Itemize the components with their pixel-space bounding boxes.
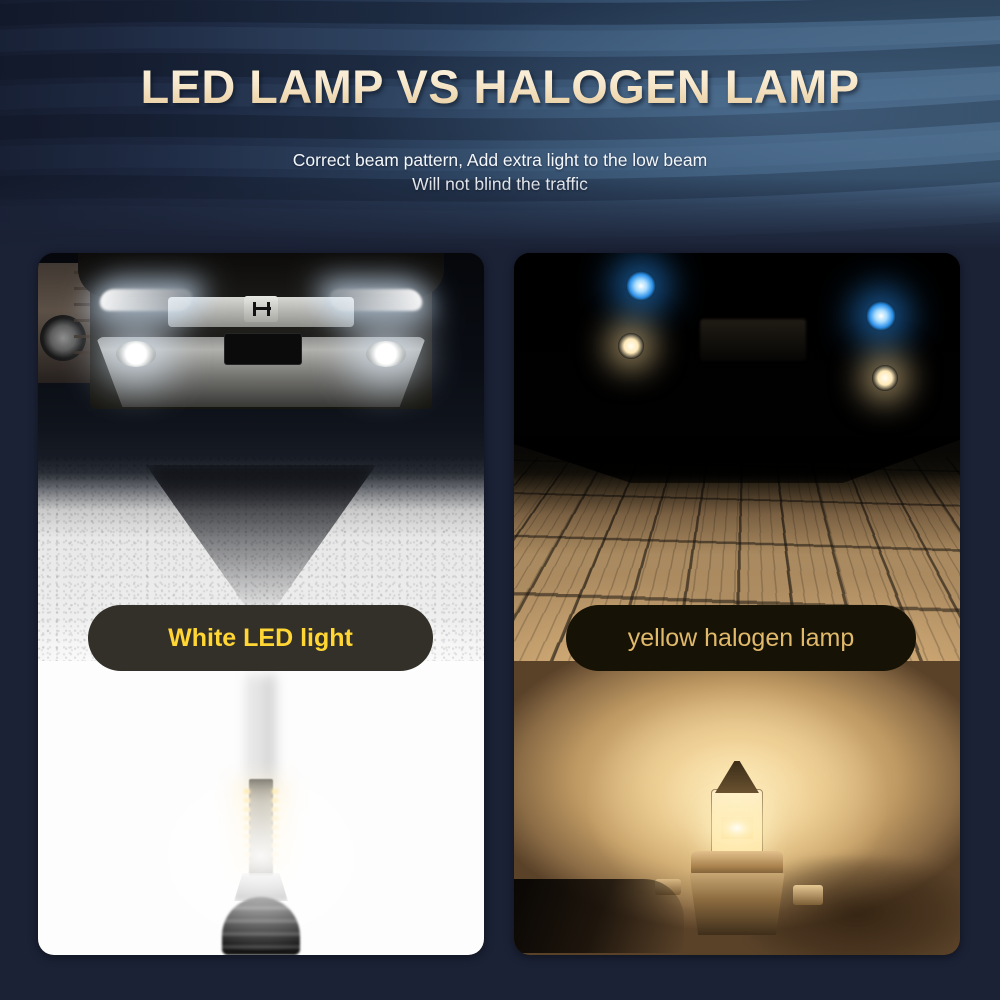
subtitle-line-1: Correct beam pattern, Add extra light to… <box>293 150 707 170</box>
halogen-bulb-wire <box>514 879 684 953</box>
caption-pill-led: White LED light <box>88 605 433 671</box>
led-foglamp-left <box>116 341 156 367</box>
comparison-panel-led <box>38 253 484 955</box>
led-chip-strip-right <box>272 789 278 863</box>
led-bulb-stem <box>248 675 274 791</box>
comparison-panel-halogen <box>514 253 960 955</box>
halogen-license-plate <box>700 319 806 361</box>
led-chip-strip-left <box>244 789 250 863</box>
led-headlamp-left <box>98 289 195 311</box>
page-subtitle: Correct beam pattern, Add extra light to… <box>0 148 1000 196</box>
halogen-road-photo <box>514 253 960 661</box>
caption-pill-halogen: yellow halogen lamp <box>566 605 916 671</box>
halogen-bulb-tab-right <box>793 885 823 905</box>
header-banner: LED LAMP VS HALOGEN LAMP Correct beam pa… <box>0 0 1000 250</box>
halogen-lamp-left <box>618 333 644 359</box>
license-plate <box>224 333 302 365</box>
blue-accent-light-right <box>866 301 896 331</box>
halogen-lamp-right <box>872 365 898 391</box>
halogen-filament-glow <box>721 817 753 839</box>
halogen-bulb-photo <box>514 661 960 955</box>
wave-pattern-decoration <box>0 0 1000 250</box>
page-title: LED LAMP VS HALOGEN LAMP <box>0 63 1000 110</box>
blue-accent-light-left <box>626 271 656 301</box>
honda-logo-icon <box>244 296 278 322</box>
page-root: LED LAMP VS HALOGEN LAMP Correct beam pa… <box>0 0 1000 1000</box>
halogen-bulb-base <box>683 873 791 935</box>
led-headlamp-right <box>328 289 425 311</box>
subtitle-line-2: Will not blind the traffic <box>0 172 1000 196</box>
led-bulb-photo <box>38 661 484 955</box>
led-bulb-core <box>249 779 273 877</box>
led-foglamp-right <box>366 341 406 367</box>
led-road-photo <box>38 253 484 661</box>
